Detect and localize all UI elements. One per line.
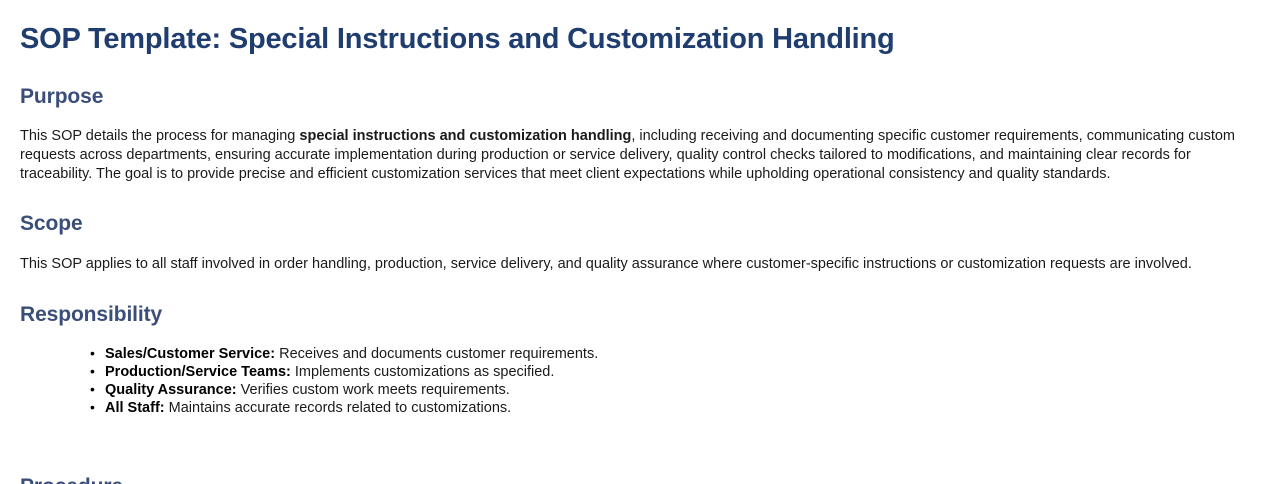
list-item: Sales/Customer Service: Receives and doc…: [90, 345, 1243, 363]
list-item: Production/Service Teams: Implements cus…: [90, 363, 1243, 381]
document-page: SOP Template: Special Instructions and C…: [0, 0, 1263, 484]
next-section-clipped: Procedure: [20, 474, 123, 484]
section-heading-purpose: Purpose: [20, 58, 1243, 110]
list-item-description: Maintains accurate records related to cu…: [165, 400, 512, 416]
list-item: Quality Assurance: Verifies custom work …: [90, 381, 1243, 399]
purpose-paragraph: This SOP details the process for managin…: [20, 110, 1243, 184]
purpose-text-emphasis: special instructions and customization h…: [299, 128, 631, 144]
page-title: SOP Template: Special Instructions and C…: [20, 0, 1243, 58]
responsibility-list: Sales/Customer Service: Receives and doc…: [20, 328, 1243, 417]
section-heading-scope: Scope: [20, 184, 1243, 237]
list-item-role: Sales/Customer Service:: [105, 346, 275, 362]
section-heading-responsibility: Responsibility: [20, 274, 1243, 328]
list-item-description: Verifies custom work meets requirements.: [237, 382, 510, 398]
list-item-description: Implements customizations as specified.: [291, 364, 555, 380]
list-item-role: Production/Service Teams:: [105, 364, 291, 380]
list-item-role: Quality Assurance:: [105, 382, 237, 398]
list-item: All Staff: Maintains accurate records re…: [90, 399, 1243, 417]
list-item-description: Receives and documents customer requirem…: [275, 346, 598, 362]
purpose-text-lead: This SOP details the process for managin…: [20, 128, 299, 144]
scope-paragraph: This SOP applies to all staff involved i…: [20, 237, 1243, 274]
section-heading-procedure: Procedure: [20, 474, 123, 484]
list-item-role: All Staff:: [105, 400, 165, 416]
